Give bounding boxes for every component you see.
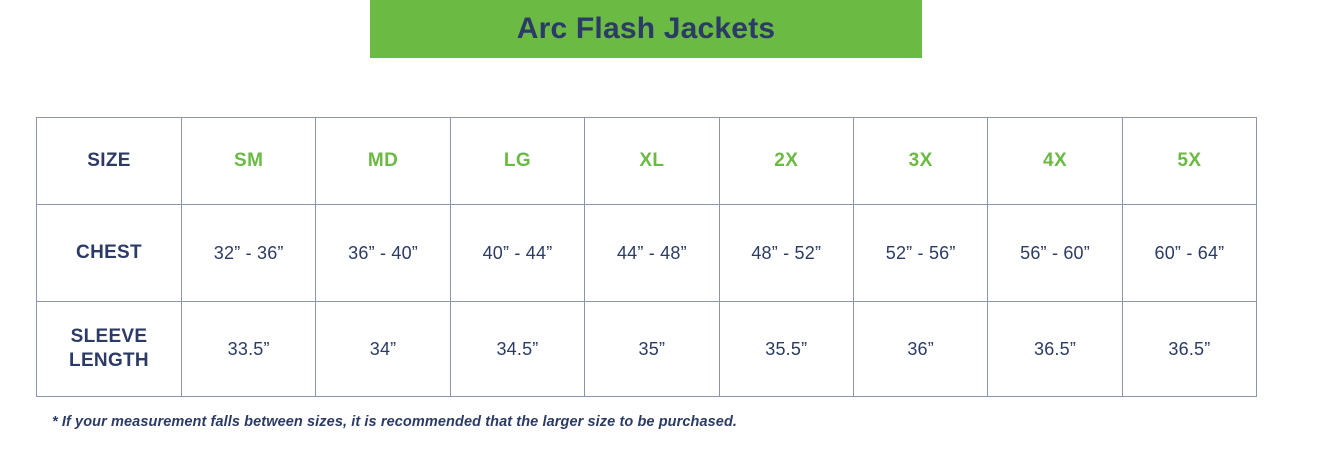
row-label-chest: CHEST: [76, 242, 142, 263]
row-label-sleeve-line2: LENGTH: [69, 350, 149, 371]
size-chart-container: SIZE SM MD LG XL 2X 3X: [36, 117, 1256, 397]
table-header-4x: 4X: [988, 118, 1122, 205]
cell-chest-lg: 40” - 44”: [450, 205, 584, 302]
cell-sleeve-5x: 36.5”: [1122, 302, 1256, 397]
table-header-size: SIZE: [37, 118, 182, 205]
cell-chest-xl: 44” - 48”: [585, 205, 719, 302]
table-header-3x: 3X: [853, 118, 987, 205]
row-header-sleeve-length: SLEEVE LENGTH: [37, 302, 182, 397]
footnote-text: * If your measurement falls between size…: [52, 414, 737, 430]
size-label-sm: SM: [234, 150, 263, 171]
row-label-size: SIZE: [87, 150, 130, 171]
value-sleeve-lg: 34.5”: [496, 339, 538, 359]
table-header-lg: LG: [450, 118, 584, 205]
value-chest-4x: 56” - 60”: [1020, 243, 1090, 263]
value-chest-sm: 32” - 36”: [214, 243, 284, 263]
table-row-chest: CHEST 32” - 36” 36” - 40” 40” - 44” 44” …: [37, 205, 1257, 302]
table-header-xl: XL: [585, 118, 719, 205]
cell-sleeve-4x: 36.5”: [988, 302, 1122, 397]
table-row-sleeve-length: SLEEVE LENGTH 33.5” 34” 34.5” 35” 35.5”: [37, 302, 1257, 397]
value-sleeve-md: 34”: [370, 339, 397, 359]
value-chest-xl: 44” - 48”: [617, 243, 687, 263]
value-chest-md: 36” - 40”: [348, 243, 418, 263]
row-header-chest: CHEST: [37, 205, 182, 302]
cell-chest-2x: 48” - 52”: [719, 205, 853, 302]
value-chest-2x: 48” - 52”: [751, 243, 821, 263]
row-label-sleeve-line1: SLEEVE: [71, 326, 148, 347]
table-header-sm: SM: [182, 118, 316, 205]
cell-chest-sm: 32” - 36”: [182, 205, 316, 302]
page-title: Arc Flash Jackets: [517, 14, 776, 44]
value-sleeve-3x: 36”: [907, 339, 934, 359]
value-sleeve-sm: 33.5”: [228, 339, 270, 359]
size-label-xl: XL: [639, 150, 664, 171]
value-chest-3x: 52” - 56”: [886, 243, 956, 263]
cell-sleeve-xl: 35”: [585, 302, 719, 397]
table-header-2x: 2X: [719, 118, 853, 205]
table-header-5x: 5X: [1122, 118, 1256, 205]
size-label-3x: 3X: [909, 150, 933, 171]
cell-sleeve-lg: 34.5”: [450, 302, 584, 397]
cell-chest-3x: 52” - 56”: [853, 205, 987, 302]
value-sleeve-4x: 36.5”: [1034, 339, 1076, 359]
table-row-header: SIZE SM MD LG XL 2X 3X: [37, 118, 1257, 205]
size-label-2x: 2X: [774, 150, 798, 171]
size-chart-table: SIZE SM MD LG XL 2X 3X: [36, 117, 1257, 397]
cell-chest-5x: 60” - 64”: [1122, 205, 1256, 302]
value-sleeve-xl: 35”: [639, 339, 666, 359]
size-label-md: MD: [368, 150, 398, 171]
value-sleeve-2x: 35.5”: [765, 339, 807, 359]
cell-sleeve-md: 34”: [316, 302, 450, 397]
cell-chest-md: 36” - 40”: [316, 205, 450, 302]
cell-sleeve-2x: 35.5”: [719, 302, 853, 397]
size-label-lg: LG: [504, 150, 531, 171]
table-header-md: MD: [316, 118, 450, 205]
value-chest-lg: 40” - 44”: [483, 243, 553, 263]
cell-chest-4x: 56” - 60”: [988, 205, 1122, 302]
cell-sleeve-3x: 36”: [853, 302, 987, 397]
title-banner-container: Arc Flash Jackets: [0, 0, 1323, 58]
cell-sleeve-sm: 33.5”: [182, 302, 316, 397]
title-banner: Arc Flash Jackets: [370, 0, 922, 58]
value-chest-5x: 60” - 64”: [1155, 243, 1225, 263]
size-label-5x: 5X: [1177, 150, 1201, 171]
size-label-4x: 4X: [1043, 150, 1067, 171]
value-sleeve-5x: 36.5”: [1168, 339, 1210, 359]
